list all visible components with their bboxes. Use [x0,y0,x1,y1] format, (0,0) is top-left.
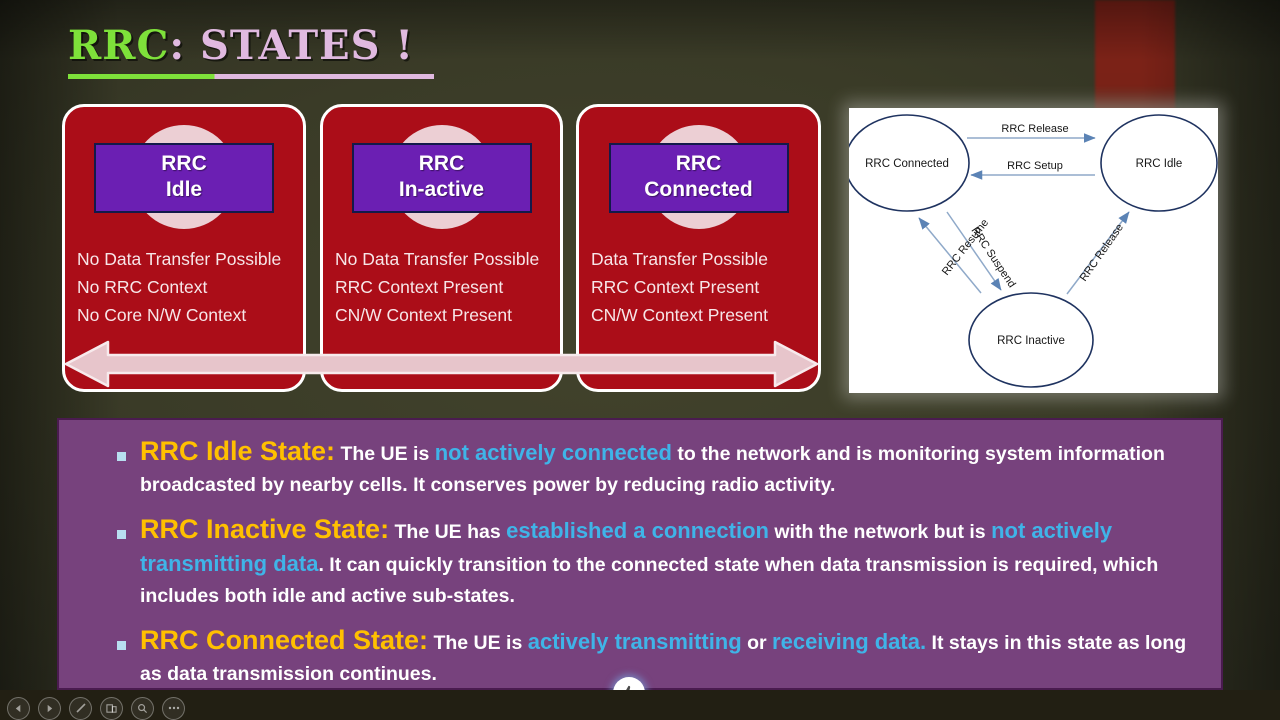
card-bullets-inactive: No Data Transfer Possible RRC Context Pr… [335,245,552,329]
state-diagram-svg: RRC Connected RRC Idle RRC Inactive RRC … [849,108,1218,393]
edge-label-rrc-release-top: RRC Release [1001,123,1068,135]
rrc-state-transition-diagram: RRC Connected RRC Idle RRC Inactive RRC … [849,108,1218,393]
card-line: RRC Context Present [591,273,810,301]
bullet-segment: The UE is [433,632,527,654]
card-line: No Data Transfer Possible [335,245,552,273]
slide-title: RRC: STATES ! [68,22,488,79]
card-label-line1: RRC [96,151,272,177]
description-panel: RRC Idle State: The UE is not actively c… [57,418,1223,690]
pen-tool-button[interactable] [69,697,92,720]
card-line: No Core N/W Context [77,301,295,329]
card-line: CN/W Context Present [335,301,552,329]
bullet-item-inactive: RRC Inactive State: The UE has establish… [77,514,1203,612]
bullet-item-idle: RRC Idle State: The UE is not actively c… [77,436,1203,501]
title-part-pink: : STATES ! [169,22,414,69]
node-label-inactive: RRC Inactive [997,335,1065,347]
bullet-segment-highlight: not actively connected [435,440,672,465]
state-card-idle: RRC Idle No Data Transfer Possible No RR… [62,104,306,392]
card-label-connected: RRC Connected [609,143,789,213]
bullet-heading: RRC Connected State: [140,625,428,655]
zoom-button[interactable] [131,697,154,720]
card-bullets-idle: No Data Transfer Possible No RRC Context… [77,245,295,329]
pen-icon [75,702,87,714]
state-card-connected: RRC Connected Data Transfer Possible RRC… [576,104,821,392]
chevron-left-icon [14,704,23,713]
magnifier-icon [137,703,148,714]
card-label-line2: Connected [611,177,787,203]
card-label-line1: RRC [611,151,787,177]
card-label-idle: RRC Idle [94,143,274,213]
presentation-slide: RRC: STATES ! RRC Idle No Data Transfer … [0,0,1280,720]
slide-grid-button[interactable] [100,697,123,720]
bullet-segment: The UE is [340,443,434,465]
card-bullets-connected: Data Transfer Possible RRC Context Prese… [591,245,810,329]
card-line: Data Transfer Possible [591,245,810,273]
title-underline [68,74,434,79]
card-label-line2: In-active [354,177,530,203]
node-label-connected: RRC Connected [865,158,949,170]
title-part-green: RRC [68,22,169,69]
card-label-line1: RRC [354,151,530,177]
bullet-text-connected: RRC Connected State: The UE is actively … [140,625,1203,690]
bullet-segment-highlight: receiving data. [772,629,926,654]
state-card-inactive: RRC In-active No Data Transfer Possible … [320,104,563,392]
bullet-segment: The UE has [395,521,507,543]
bullet-heading: RRC Idle State: [140,436,335,466]
next-slide-button[interactable] [38,697,61,720]
card-label-inactive: RRC In-active [352,143,532,213]
card-line: CN/W Context Present [591,301,810,329]
ellipsis-icon [168,706,180,710]
node-label-idle: RRC Idle [1136,158,1183,170]
more-options-button[interactable] [162,697,185,720]
grid-icon [106,703,117,714]
card-line: RRC Context Present [335,273,552,301]
bullet-segment-highlight: established a connection [506,518,769,543]
edge-label-rrc-setup: RRC Setup [1007,160,1063,172]
previous-slide-button[interactable] [7,697,30,720]
card-line: No Data Transfer Possible [77,245,295,273]
bullet-marker-icon [117,452,126,461]
bullet-text-idle: RRC Idle State: The UE is not actively c… [140,436,1203,501]
bullet-item-connected: RRC Connected State: The UE is actively … [77,625,1203,690]
edge-label-rrc-release-right: RRC Release [1078,222,1126,284]
bullet-segment: with the network but is [769,521,991,543]
bullet-heading: RRC Inactive State: [140,514,389,544]
bullet-segment: or [742,632,772,654]
card-line: No RRC Context [77,273,295,301]
bullet-marker-icon [117,530,126,539]
chevron-right-icon [45,704,54,713]
presentation-toolbar [0,696,1280,720]
bullet-text-inactive: RRC Inactive State: The UE has establish… [140,514,1203,612]
bullet-marker-icon [117,641,126,650]
card-label-line2: Idle [96,177,272,203]
bullet-segment-highlight: actively transmitting [528,629,742,654]
